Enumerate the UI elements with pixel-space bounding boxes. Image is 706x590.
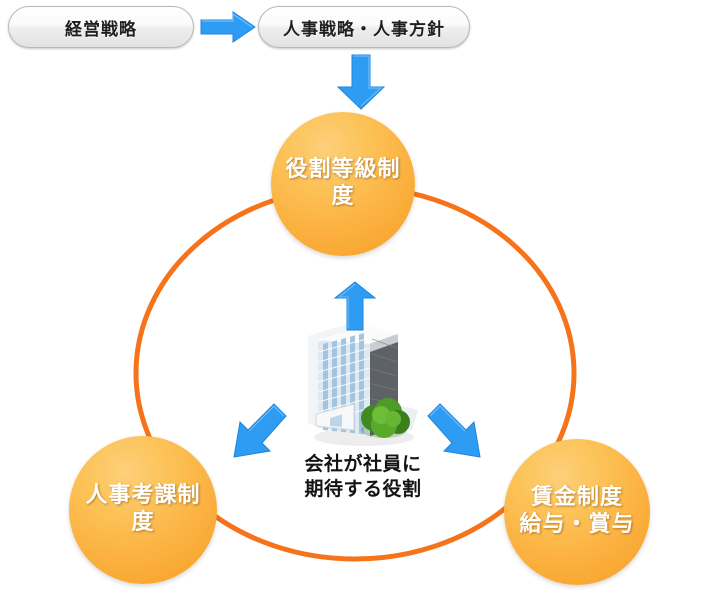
pill-management-strategy[interactable]: 経営戦略 bbox=[8, 6, 194, 48]
arrow-down-icon bbox=[336, 54, 386, 110]
pill-management-strategy-label: 経営戦略 bbox=[65, 15, 137, 40]
node-role-grade-system-label: 役割等級制度 bbox=[271, 157, 415, 211]
center-caption-line-2: 期待する役割 bbox=[268, 477, 458, 502]
center-caption-line-1: 会社が社員に bbox=[268, 452, 458, 477]
node-personnel-evaluation-system-label: 人事考課制度 bbox=[69, 483, 217, 537]
node-role-grade-system[interactable]: 役割等級制度 bbox=[271, 112, 415, 256]
arrow-right-icon bbox=[200, 11, 256, 43]
node-wage-system-label: 賃金制度 給与・賞与 bbox=[513, 485, 640, 539]
node-personnel-evaluation-system[interactable]: 人事考課制度 bbox=[69, 436, 217, 584]
diagram-canvas: 経営戦略 人事戦略・人事方針 bbox=[0, 0, 706, 590]
pill-hr-strategy-policy-label: 人事戦略・人事方針 bbox=[283, 15, 445, 40]
arrow-up-icon bbox=[333, 281, 377, 331]
center-caption: 会社が社員に 期待する役割 bbox=[268, 452, 458, 502]
pill-hr-strategy-policy[interactable]: 人事戦略・人事方針 bbox=[258, 6, 470, 48]
node-wage-system[interactable]: 賃金制度 給与・賞与 bbox=[504, 439, 650, 585]
